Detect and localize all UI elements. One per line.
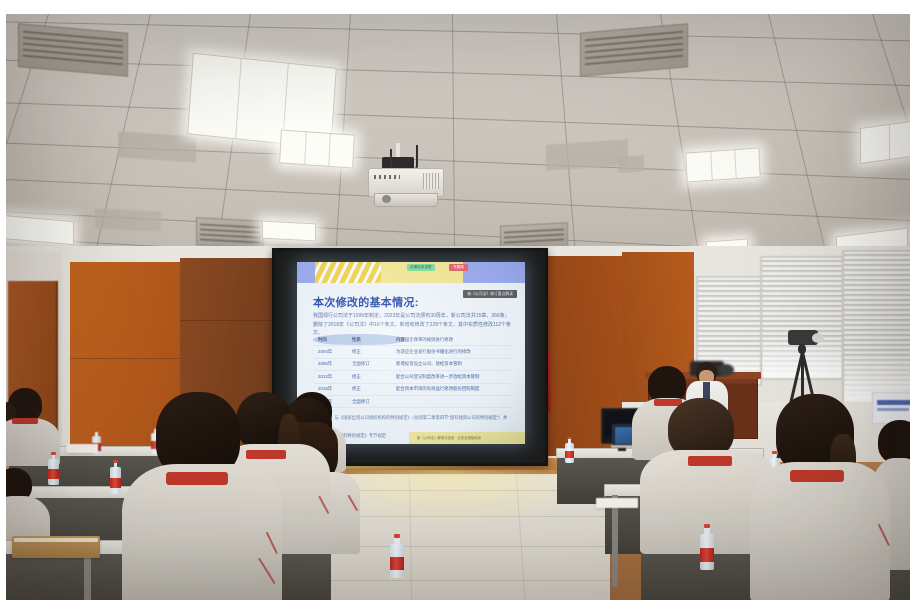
cell-content: 为适应企业发行股份书籍化进行的修改: [396, 349, 511, 355]
col-header-content: 内容: [396, 337, 405, 343]
col-header-nature: 性质: [352, 337, 396, 343]
cell-content: 配合资本市场的有效运行修改股份回购制度: [396, 386, 511, 392]
ceiling: [0, 14, 916, 259]
slide-badge: 新《公司法》修订要点解读: [463, 290, 517, 298]
table-row: 2005年 全面修订 新增投资设立公司、放松资本管制: [313, 359, 511, 371]
slide-tag-left: 法律实务讲堂: [407, 264, 435, 271]
screenshot-root: 法律实务讲堂 专题课 新《公司法》修订要点解读 本次修改的基本情况: 我国现行公…: [0, 0, 916, 613]
water-bottle: [110, 460, 121, 494]
paper-sheet: [596, 498, 638, 508]
cell-time: 2013年: [313, 374, 352, 380]
slide-tag-right: 专题课: [449, 264, 468, 271]
water-bottle: [565, 437, 574, 463]
table-header-row: 时间 性质 内容: [313, 334, 405, 345]
table-row: 2004年 修正 为适应企业发行股份书籍化进行的修改: [313, 346, 511, 358]
col-header-time: 时间: [313, 337, 352, 343]
water-bottle: [700, 524, 714, 570]
recessed-fluorescent-panel: [279, 129, 355, 168]
slide-footer-bar: 新《公司法》解读与适用 · 法务合规部培训: [409, 432, 525, 444]
hvac-air-diffuser: [196, 217, 264, 249]
cell-nature: 修正: [352, 374, 396, 380]
image-border: [0, 0, 6, 613]
seated-attendee: [760, 394, 880, 600]
cell-nature: 全面修订: [352, 399, 396, 405]
cell-nature: 修正: [352, 386, 396, 392]
camera-lens-icon: [812, 333, 824, 343]
ceiling-mounted-projector: [368, 143, 442, 207]
cell-content: 配合公司登记制度改革进一步放松资本管制: [396, 374, 511, 380]
slide-decor-band: 法律实务讲堂 专题课: [297, 262, 525, 283]
seated-attendee: [128, 392, 272, 602]
window-with-venetian-blinds: [842, 250, 916, 404]
water-bottle: [390, 534, 404, 578]
notebook: [12, 536, 100, 558]
paper-sheet: [66, 444, 98, 453]
image-border: [0, 600, 916, 613]
recessed-fluorescent-panel: [262, 221, 316, 242]
recessed-fluorescent-panel: [0, 215, 74, 245]
hvac-air-diffuser: [18, 23, 128, 77]
cell-time: 2005年: [313, 361, 352, 367]
slide-footer-text: 新《公司法》解读与适用 · 法务合规部培训: [417, 435, 481, 440]
slide-title: 本次修改的基本情况:: [313, 294, 419, 310]
cell-time: 2004年: [313, 349, 352, 355]
cell-nature: 全面修订: [352, 361, 396, 367]
recessed-fluorescent-panel: [685, 147, 761, 182]
recessed-fluorescent-panel: [860, 120, 916, 164]
image-border: [0, 0, 916, 14]
cell-content: 依据国企改革的规则进行修改: [396, 337, 511, 343]
cell-content: 新增投资设立公司、放松资本管制: [396, 361, 511, 367]
hvac-air-diffuser: [580, 23, 688, 76]
table-row: 2013年 修正 配合公司登记制度改革进一步放松资本管制: [313, 371, 511, 383]
cell-nature: 修正: [352, 349, 396, 355]
image-border: [910, 0, 916, 613]
